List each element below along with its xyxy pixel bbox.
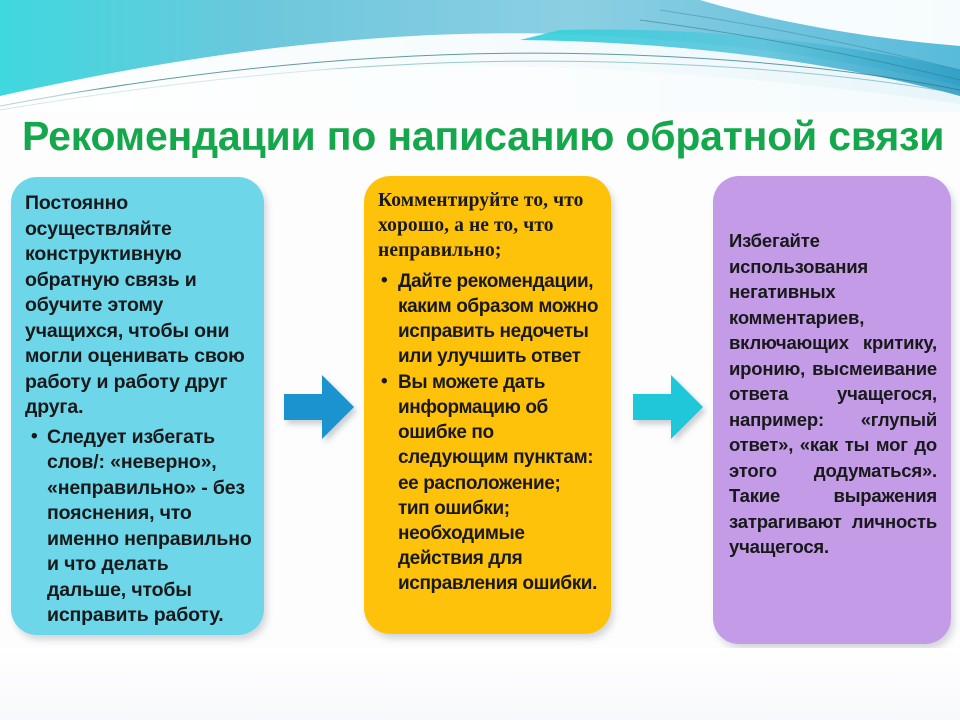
panel-yellow-content: Комментируйте то, что хорошо, а не то, ч… — [378, 188, 601, 626]
arrow-right-glyph — [282, 374, 356, 440]
list-item: Следует избегать слов/: «неверно», «непр… — [25, 425, 252, 629]
panel-yellow-bullet-list: Дайте рекомендации, каким образом можно … — [378, 269, 601, 470]
arrow-right-icon-1 — [282, 374, 356, 440]
list-item: необходимые действия для исправления оши… — [398, 521, 601, 596]
arrow-right-icon-2 — [631, 374, 705, 440]
panel-blue-paragraph: Постоянно осуществляйте конструктивную о… — [25, 191, 252, 421]
panel-purple-paragraph: Избегайте использования негативных комме… — [729, 228, 937, 560]
arrow-right-glyph — [631, 374, 705, 440]
panel-purple-content: Избегайте использования негативных комме… — [729, 228, 937, 636]
list-item: ее расположение; — [398, 471, 601, 496]
panel-blue: Постоянно осуществляйте конструктивную о… — [11, 177, 264, 635]
decorative-wave-banner — [0, 0, 960, 112]
panel-purple: Избегайте использования негативных комме… — [713, 176, 951, 644]
panel-blue-content: Постоянно осуществляйте конструктивную о… — [25, 191, 252, 627]
panel-blue-bullet-list: Следует избегать слов/: «неверно», «непр… — [25, 425, 252, 629]
bottom-gradient-wash — [0, 648, 960, 720]
page-title: Рекомендации по написанию обратной связи — [22, 108, 952, 164]
panel-yellow-lead: Комментируйте то, что хорошо, а не то, ч… — [378, 188, 601, 263]
panel-yellow: Комментируйте то, что хорошо, а не то, ч… — [364, 176, 611, 634]
wave-banner-graphic — [0, 0, 960, 112]
slide-canvas: Рекомендации по написанию обратной связи… — [0, 0, 960, 720]
list-item: Дайте рекомендации, каким образом можно … — [378, 269, 601, 369]
list-item: Вы можете дать информацию об ошибке по с… — [378, 370, 601, 470]
list-item: тип ошибки; — [398, 496, 601, 521]
panel-yellow-sub-list: ее расположение; тип ошибки; необходимые… — [378, 471, 601, 596]
